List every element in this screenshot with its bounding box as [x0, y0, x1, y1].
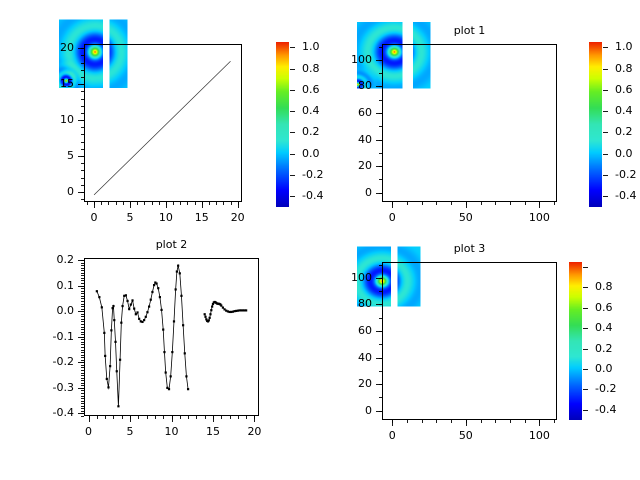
y-tick-label: 20 — [320, 377, 372, 390]
colorbar-tick-label: 0.4 — [615, 104, 640, 117]
x-tick-label: 5 — [110, 425, 150, 438]
colorbar-tick-label: -0.2 — [595, 382, 639, 395]
colorbar-tick-label: 0.2 — [595, 342, 639, 355]
x-tick-label: 0 — [372, 211, 412, 224]
y-tick-label: -0.2 — [22, 355, 74, 368]
colorbar-tick-label: -0.4 — [595, 403, 639, 416]
y-tick-label: -0.4 — [22, 406, 74, 419]
colorbar: 1.00.80.60.40.20.0-0.2-0.4 — [589, 42, 640, 207]
colorbar-tick-label: -0.4 — [615, 189, 640, 202]
colorbar-tick-label: 0.0 — [595, 362, 639, 375]
y-tick-label: 0 — [320, 404, 372, 417]
colorbar-gradient — [569, 262, 582, 420]
x-tick-label: 10 — [152, 425, 192, 438]
x-tick-label: 0 — [372, 429, 412, 442]
colorbar-ticks — [583, 262, 593, 420]
y-tick-label: 20 — [22, 41, 74, 54]
colorbar-gradient — [589, 42, 602, 207]
y-tick-label: 15 — [22, 77, 74, 90]
y-tick-label: 20 — [320, 159, 372, 172]
figure-canvas: 05101520051015201.00.80.60.40.20.0-0.2-0… — [0, 0, 640, 480]
plot-area — [352, 14, 587, 232]
colorbar-tick-label: 0.0 — [615, 147, 640, 160]
y-tick-label: 40 — [320, 133, 372, 146]
x-tick-label: 15 — [182, 211, 222, 224]
y-tick-label: 60 — [320, 324, 372, 337]
x-tick-label: 5 — [110, 211, 150, 224]
x-tick-label: 0 — [69, 425, 109, 438]
y-tick-label: 0.1 — [22, 279, 74, 292]
y-tick-label: 60 — [320, 106, 372, 119]
y-tick-label: 80 — [320, 79, 372, 92]
y-tick-label: 0.2 — [22, 253, 74, 266]
plot-area — [54, 14, 272, 232]
colorbar-tick-label: 1.0 — [615, 40, 640, 53]
y-tick-label: 10 — [22, 113, 74, 126]
colorbar-tick-label: 0.6 — [615, 83, 640, 96]
colorbar-ticks — [290, 42, 300, 207]
x-tick-label: 10 — [146, 211, 186, 224]
panel-2: plot 20.20.10.0-0.1-0.2-0.3-0.405101520 — [22, 236, 327, 454]
colorbar-tick-label: 0.2 — [615, 125, 640, 138]
plot-area — [352, 232, 587, 450]
x-tick-label: 0 — [74, 211, 114, 224]
x-tick-label: 50 — [446, 429, 486, 442]
colorbar-tick-label: -0.2 — [615, 168, 640, 181]
colorbar: 0.80.60.40.20.0-0.2-0.4 — [569, 262, 640, 420]
colorbar-tick-label: 0.8 — [595, 280, 639, 293]
x-tick-label: 100 — [519, 429, 559, 442]
y-tick-label: 100 — [320, 53, 372, 66]
y-tick-label: 80 — [320, 297, 372, 310]
colorbar-tick-label: 0.8 — [615, 62, 640, 75]
x-tick-label: 15 — [193, 425, 233, 438]
x-tick-label: 50 — [446, 211, 486, 224]
y-tick-label: 5 — [22, 149, 74, 162]
panel-1: plot 1020406080100050100 — [320, 22, 625, 240]
panel-0: 0510152005101520 — [22, 22, 310, 240]
y-tick-label: 40 — [320, 351, 372, 364]
y-tick-label: -0.3 — [22, 381, 74, 394]
x-tick-label: 100 — [519, 211, 559, 224]
y-tick-label: 0 — [22, 185, 74, 198]
y-tick-label: 100 — [320, 271, 372, 284]
colorbar-ticks — [603, 42, 613, 207]
colorbar-tick-label: 0.6 — [595, 301, 639, 314]
colorbar-tick-label: 0.4 — [595, 321, 639, 334]
y-tick-label: 0 — [320, 186, 372, 199]
plot-area — [54, 228, 289, 446]
x-tick-label: 20 — [234, 425, 274, 438]
x-tick-label: 20 — [218, 211, 258, 224]
y-tick-label: -0.1 — [22, 330, 74, 343]
colorbar-gradient — [276, 42, 289, 207]
y-tick-label: 0.0 — [22, 304, 74, 317]
